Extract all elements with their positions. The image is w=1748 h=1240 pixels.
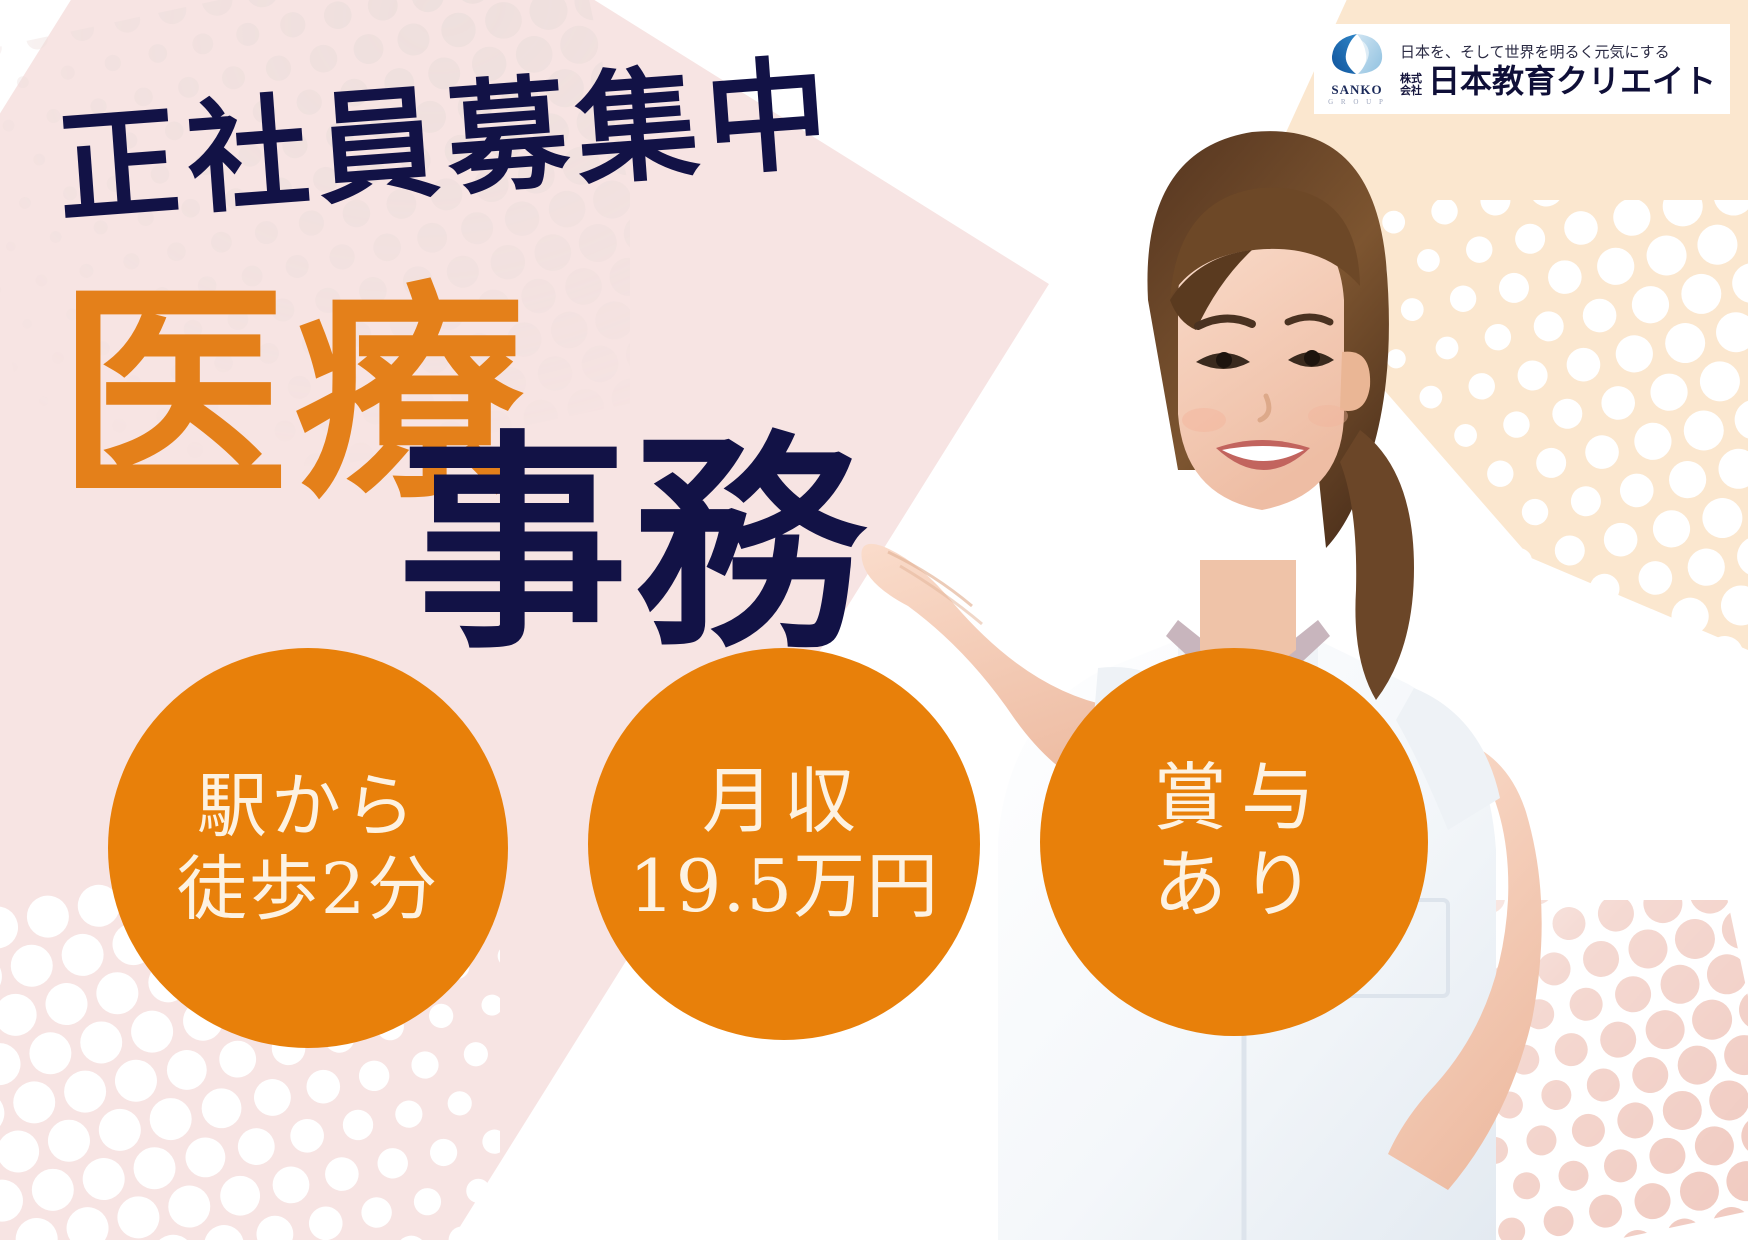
feature-circle-station: 駅から 徒歩2分 xyxy=(108,648,508,1048)
title-line-navy: 事務 xyxy=(398,430,870,660)
logo-corporate-prefix: 株式 会社 xyxy=(1400,73,1422,97)
feature-circle-salary: 月収 19.5万円 xyxy=(588,648,980,1040)
feature-bonus-line1: 賞与 xyxy=(1139,755,1329,842)
logo-tagline: 日本を、そして世界を明るく元気にする xyxy=(1400,41,1716,62)
main-title: 医療 事務 xyxy=(48,280,948,680)
feature-station-line2: 徒歩2分 xyxy=(177,848,440,931)
group-wordmark: G R O U P xyxy=(1324,98,1390,106)
logo-company-row: 株式 会社 日本教育クリエイト xyxy=(1400,65,1716,97)
feature-salary-line2: 19.5万円 xyxy=(629,844,939,929)
feature-bonus-line2: あり xyxy=(1139,842,1329,929)
logo-text-block: 日本を、そして世界を明るく元気にする 株式 会社 日本教育クリエイト xyxy=(1400,41,1716,97)
feature-station-line1: 駅から xyxy=(197,765,419,848)
logo-prefix-line1: 株式 xyxy=(1400,73,1422,85)
sanko-group-logo-icon: SANKO G R O U P xyxy=(1324,32,1390,106)
feature-salary-line1: 月収 xyxy=(702,759,866,844)
logo-prefix-line2: 会社 xyxy=(1400,85,1422,97)
corporate-logo: SANKO G R O U P 日本を、そして世界を明るく元気にする 株式 会社… xyxy=(1314,24,1730,114)
job-ad-banner: 正社員募集中 医療 事務 駅から 徒歩2分 月収 19.5万円 賞与 あり xyxy=(0,0,1748,1240)
feature-circle-bonus: 賞与 あり xyxy=(1040,648,1428,1036)
sanko-wordmark: SANKO xyxy=(1324,82,1390,98)
logo-company-name: 日本教育クリエイト xyxy=(1428,65,1716,97)
kicker-headline: 正社員募集中 xyxy=(53,51,840,230)
staff-photo xyxy=(848,0,1568,1240)
